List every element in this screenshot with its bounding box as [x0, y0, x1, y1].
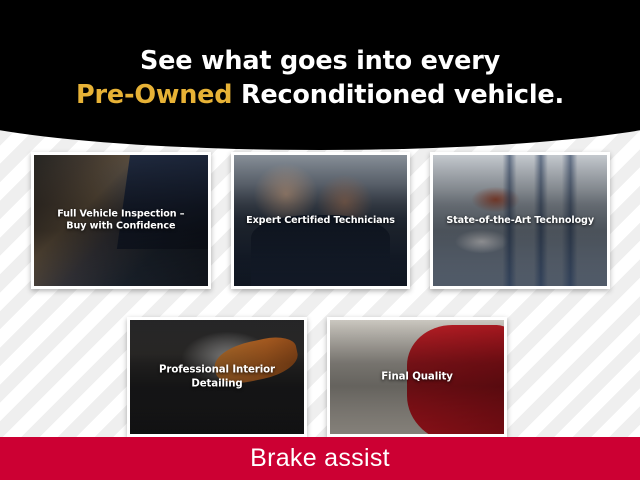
card-expert-certified-technicians[interactable]: Expert Certified Technicians [231, 152, 411, 289]
header-black-banner [0, 0, 640, 150]
card-final-quality[interactable]: Final Quality [327, 317, 507, 437]
card-state-of-the-art-technology[interactable]: State-of-the-Art Technology [430, 152, 610, 289]
card-full-vehicle-inspection[interactable]: Full Vehicle Inspection – Buy with Confi… [31, 152, 211, 289]
card-caption: Final Quality [334, 370, 500, 384]
card-row-top: Full Vehicle Inspection – Buy with Confi… [31, 152, 610, 289]
infographic-stage: See what goes into every Pre-Owned Recon… [0, 0, 640, 480]
card-caption: Expert Certified Technicians [238, 214, 404, 227]
card-caption: State-of-the-Art Technology [437, 214, 603, 227]
card-caption: Full Vehicle Inspection – Buy with Confi… [38, 208, 204, 233]
bottom-feature-banner: Brake assist [0, 437, 640, 480]
card-professional-interior-detailing[interactable]: Professional Interior Detailing [127, 317, 307, 437]
card-caption: Professional Interior Detailing [134, 364, 300, 391]
card-row-bottom: Professional Interior Detailing Final Qu… [127, 317, 507, 437]
banner-label: Brake assist [250, 444, 390, 473]
